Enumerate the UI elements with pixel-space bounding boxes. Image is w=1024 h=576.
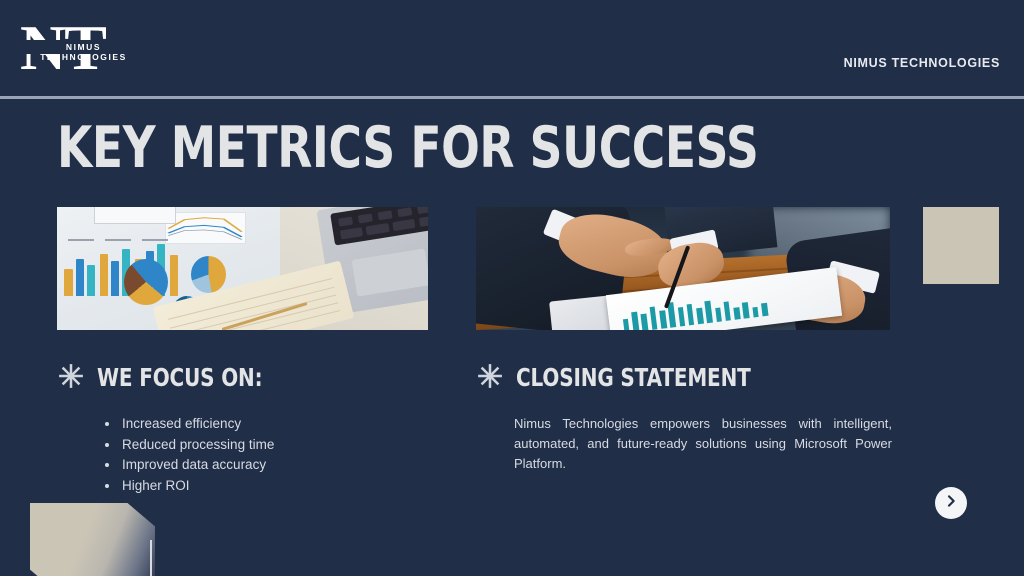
closing-section-head: CLOSING STATEMENT — [476, 358, 896, 398]
page-title: KEY METRICS FOR SUCCESS — [57, 118, 758, 178]
chevron-right-icon — [943, 493, 959, 514]
list-item: Improved data accuracy — [120, 455, 274, 475]
header-brand-name: NIMUS TECHNOLOGIES — [844, 56, 1000, 70]
beige-accent-square — [923, 207, 999, 284]
slide-header: NT NIMUS TECHNOLOGIES NIMUS TECHNOLOGIES — [0, 0, 1024, 97]
logo-subtitle: NIMUS TECHNOLOGIES — [22, 42, 145, 62]
focus-section: WE FOCUS ON: Increased efficiency Reduce… — [57, 358, 437, 398]
closing-statement-text: Nimus Technologies empowers businesses w… — [514, 414, 892, 474]
analytics-charts-photo — [57, 207, 428, 330]
next-slide-button[interactable] — [935, 487, 967, 519]
company-logo: NT NIMUS TECHNOLOGIES — [20, 12, 145, 84]
list-item: Increased efficiency — [120, 414, 274, 434]
corner-accent-line — [150, 540, 152, 576]
closing-section-title: CLOSING STATEMENT — [516, 364, 751, 391]
focus-section-head: WE FOCUS ON: — [57, 358, 437, 398]
closing-section: CLOSING STATEMENT Nimus Technologies emp… — [476, 358, 896, 398]
list-item: Higher ROI — [120, 476, 274, 496]
focus-bullet-list: Increased efficiency Reduced processing … — [120, 414, 274, 496]
business-meeting-photo — [476, 207, 890, 330]
slide-canvas: NT NIMUS TECHNOLOGIES NIMUS TECHNOLOGIES… — [0, 0, 1024, 576]
sparkle-burst-icon — [476, 362, 504, 390]
header-divider — [0, 96, 1024, 99]
focus-section-title: WE FOCUS ON: — [97, 364, 262, 391]
list-item: Reduced processing time — [120, 435, 274, 455]
corner-accent-shape — [30, 503, 155, 576]
sparkle-burst-icon — [57, 362, 85, 390]
